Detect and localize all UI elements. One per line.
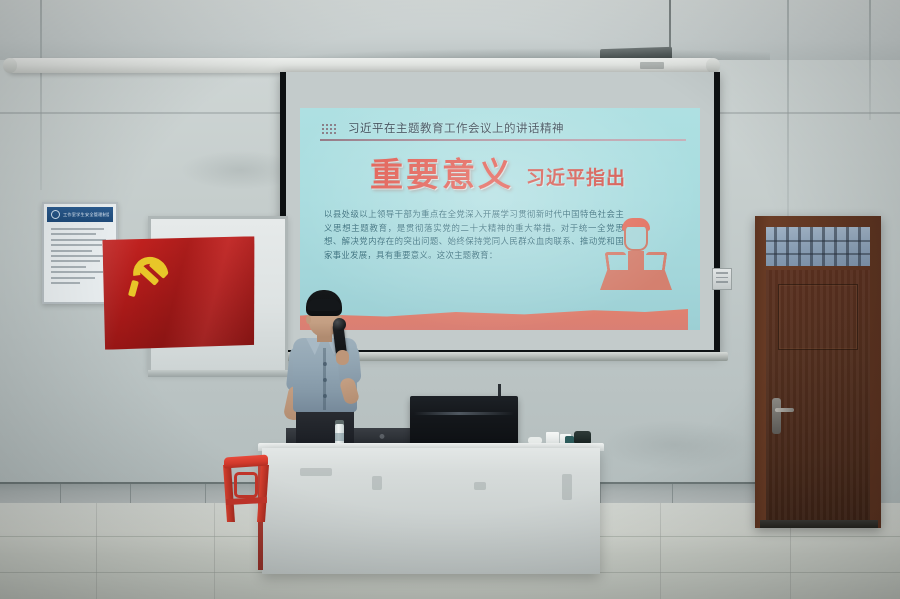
roller-endcap [706,58,720,73]
speaker-at-podium-illustration [588,218,684,304]
illustration-head [624,227,648,251]
red-plastic-stool[interactable] [222,456,270,522]
slide-title-main: 重要意义 [370,158,514,191]
podium-scuff [300,468,332,476]
stool-hand-hole [234,472,258,498]
monitor-screen-glare [414,412,514,415]
shirt-button [323,362,327,366]
transom-window [766,227,870,266]
baseboard-seam [60,482,61,504]
communist-party-flag [102,236,255,350]
illustration-arm-right [644,252,668,272]
illustration-podium [600,270,672,290]
podium-scuff [372,476,382,490]
slide-title-row: 重要意义 习近平指出 [370,158,626,191]
door-panel [778,284,858,350]
podium-scuff [562,474,572,500]
shirt-button [323,394,327,398]
hand-right [336,350,349,365]
illustration-arm-left [605,252,629,272]
poster-body-lines [51,228,109,294]
roller-label [640,62,664,69]
microphone-head [332,317,346,331]
presenter [276,290,372,460]
poster-emblem-icon [51,210,60,219]
dot-grid-decoration [322,124,344,136]
poster-header: 工作室学生安全管理制度 [47,207,113,222]
wall-seam-left [40,0,42,190]
wall-seam-far-right [869,0,871,120]
slide-body-text: 以县处级以上领导干部为重点在全党深入开展学习贯彻新时代中国特色社会主义思想主题教… [324,208,624,262]
hammer-and-sickle-icon [125,253,180,308]
screen-roller-case [7,58,717,73]
door-handle-plate[interactable] [772,398,781,434]
baseboard-seam [205,482,206,504]
ear-left [306,315,311,324]
bottle-label [335,433,344,441]
classroom-door[interactable] [766,270,870,520]
door-threshold [760,520,878,528]
slide-title-sub: 习近平指出 [526,169,626,191]
wall-seam-right [787,0,789,240]
baseboard-seam [672,482,673,504]
roller-endcap [3,58,17,73]
monitor [410,396,518,448]
slide-header-rule [320,139,686,141]
podium-scuff [474,482,486,490]
lecture-hall-photo: 习近平在主题教育工作会议上的讲话精神 重要意义 习近平指出 以县处级以上领导干部… [0,0,900,599]
baseboard-seam [130,482,131,504]
sickle-handle-shape [128,280,139,297]
poster-header-text: 工作室学生安全管理制度 [63,212,109,218]
door-lever-handle[interactable] [775,408,794,412]
wall-smudge [600,420,750,470]
shirt-button [323,378,327,382]
baseboard-seam [600,482,601,504]
stool-leg-right [257,465,269,522]
hair-fringe [307,299,341,311]
podium [262,448,600,574]
illustration-torso [628,251,644,273]
ceiling-mount-rod [669,0,671,52]
slide-kicker-text: 习近平在主题教育工作会议上的讲话精神 [348,120,564,136]
wall-mounted-control-box [712,268,732,290]
whiteboard-marker-tray [148,370,288,377]
